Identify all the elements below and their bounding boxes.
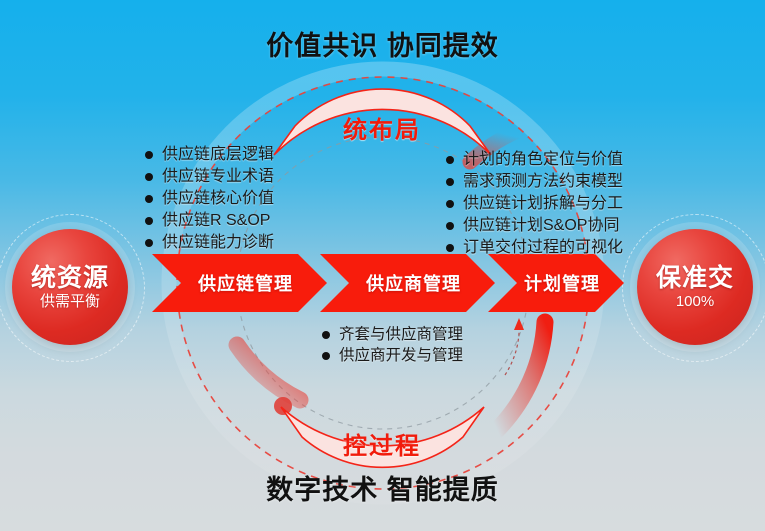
page-title-bottom: 数字技术 智能提质 xyxy=(0,477,765,504)
bullet-text: 供应链计划拆解与分工 xyxy=(463,193,623,215)
page-title-top: 价值共识 协同提效 xyxy=(0,33,765,60)
process-step-2-label: 供应商管理 xyxy=(366,270,461,296)
bullet-dot-icon xyxy=(446,200,454,208)
arc-sweep-left xyxy=(237,345,300,400)
process-step-3-label: 计划管理 xyxy=(524,270,600,296)
bullet-text: 订单交付过程的可视化 xyxy=(463,237,623,259)
process-step-2[interactable]: 供应商管理 xyxy=(320,254,495,312)
bullet-list-right: 计划的角色定位与价值 需求预测方法约束模型 供应链计划拆解与分工 供应链计划S&… xyxy=(446,149,623,259)
banner-bottom: 控过程 xyxy=(259,400,505,462)
bullet-text: 计划的角色定位与价值 xyxy=(463,149,623,171)
right-goal-subtitle: 100% xyxy=(676,294,714,309)
banner-bottom-label: 控过程 xyxy=(259,426,505,461)
bullet-dot-icon xyxy=(145,151,153,159)
process-step-1[interactable]: 供应链管理 xyxy=(152,254,327,312)
bullet-text: 供应商开发与管理 xyxy=(339,345,463,366)
list-item: 需求预测方法约束模型 xyxy=(446,171,623,193)
bullet-text: 供应链底层逻辑 xyxy=(162,144,274,166)
flow-arrow xyxy=(505,323,519,375)
bullet-dot-icon xyxy=(145,173,153,181)
bullet-dot-icon xyxy=(322,331,330,339)
bullet-text: 供应链核心价值 xyxy=(162,188,274,210)
banner-top-label: 统布局 xyxy=(259,110,505,145)
bullet-dot-icon xyxy=(446,156,454,164)
bullet-text: 需求预测方法约束模型 xyxy=(463,171,623,193)
bullet-dot-icon xyxy=(145,239,153,247)
bullet-text: 供应链能力诊断 xyxy=(162,232,274,254)
list-item: 供应商开发与管理 xyxy=(322,345,463,366)
list-item: 供应链核心价值 xyxy=(145,188,274,210)
bullet-dot-icon xyxy=(446,178,454,186)
list-item: 订单交付过程的可视化 xyxy=(446,237,623,259)
list-item: 供应链计划S&OP协同 xyxy=(446,215,623,237)
process-step-1-label: 供应链管理 xyxy=(198,270,293,296)
bullet-dot-icon xyxy=(446,244,454,252)
left-goal-title: 统资源 xyxy=(31,265,109,291)
flow-arrow-head xyxy=(514,318,524,330)
bullet-text: 供应链计划S&OP协同 xyxy=(463,215,619,237)
process-chevron-group: 供应链管理 供应商管理 计划管理 xyxy=(152,254,624,312)
diagram-canvas: 价值共识 协同提效 数字技术 智能提质 统布局 控过程 统资源 供需平衡 保准交… xyxy=(0,0,765,531)
right-goal-title: 保准交 xyxy=(656,265,734,291)
list-item: 供应链计划拆解与分工 xyxy=(446,193,623,215)
bullet-list-left: 供应链底层逻辑 供应链专业术语 供应链核心价值 供应链R S&OP 供应链能力诊… xyxy=(145,144,274,254)
bullet-text: 供应链专业术语 xyxy=(162,166,274,188)
bullet-text: 齐套与供应商管理 xyxy=(339,324,463,345)
list-item: 供应链底层逻辑 xyxy=(145,144,274,166)
list-item: 供应链专业术语 xyxy=(145,166,274,188)
bullet-list-bottom: 齐套与供应商管理 供应商开发与管理 xyxy=(322,324,463,367)
process-step-3[interactable]: 计划管理 xyxy=(488,254,624,312)
right-goal-circle: 保准交 100% xyxy=(637,229,753,345)
bullet-dot-icon xyxy=(145,217,153,225)
left-goal-subtitle: 供需平衡 xyxy=(40,294,100,309)
bullet-dot-icon xyxy=(322,352,330,360)
bullet-dot-icon xyxy=(145,195,153,203)
list-item: 供应链能力诊断 xyxy=(145,232,274,254)
bullet-text: 供应链R S&OP xyxy=(162,210,270,232)
left-goal-circle: 统资源 供需平衡 xyxy=(12,229,128,345)
list-item: 齐套与供应商管理 xyxy=(322,324,463,345)
list-item: 供应链R S&OP xyxy=(145,210,274,232)
bullet-dot-icon xyxy=(446,222,454,230)
list-item: 计划的角色定位与价值 xyxy=(446,149,623,171)
banner-top: 统布局 xyxy=(259,94,505,156)
